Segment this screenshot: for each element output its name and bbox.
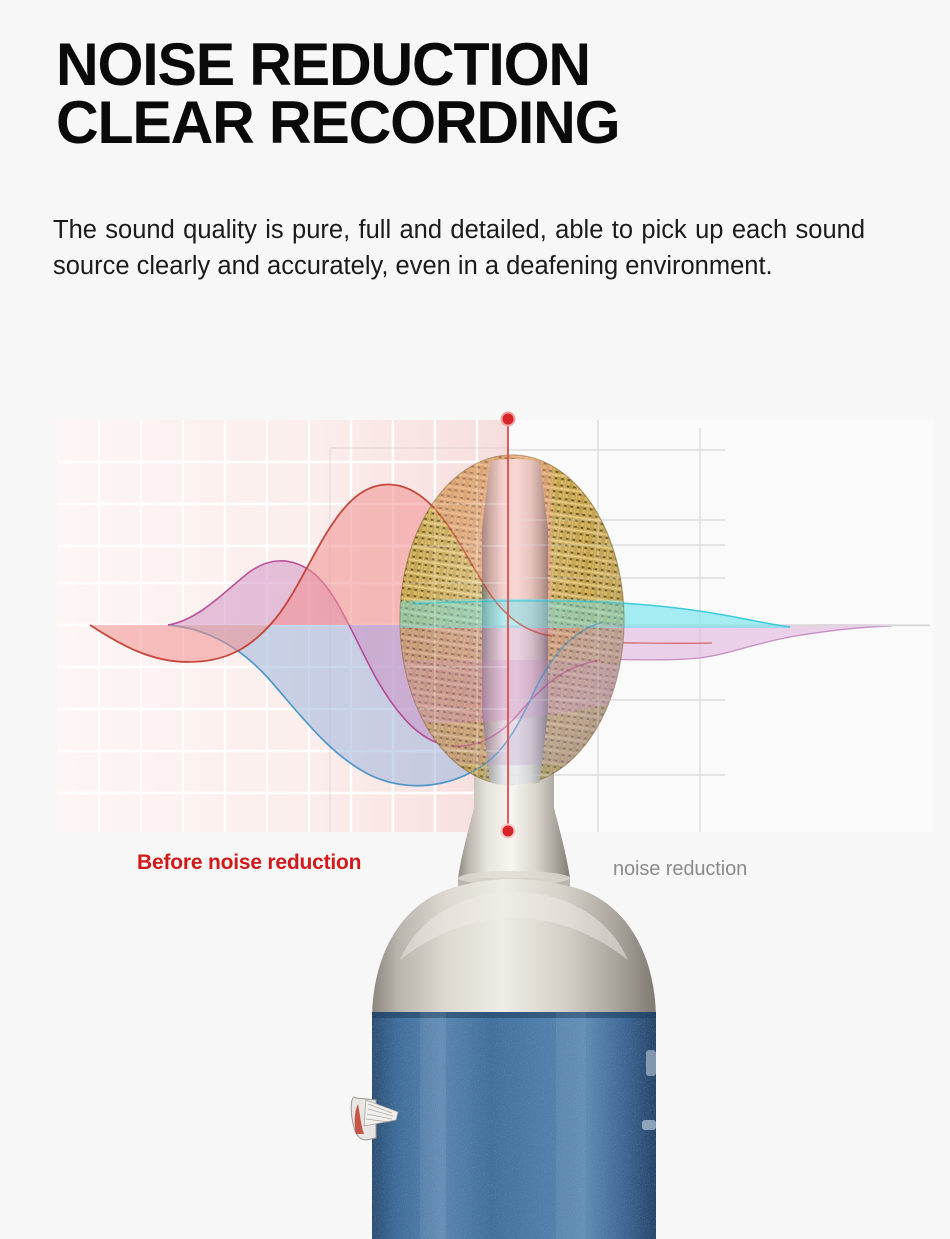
caption-after-noise-reduction: noise reduction bbox=[613, 858, 747, 881]
headline-line-1: NOISE REDUCTION bbox=[56, 36, 874, 94]
wave-magenta-mid-band bbox=[168, 561, 600, 746]
divider-marker bbox=[502, 413, 515, 838]
page-title: NOISE REDUCTIONCLEAR RECORDING bbox=[56, 36, 874, 152]
page-description: The sound quality is pure, full and deta… bbox=[53, 212, 865, 284]
wave-red-tail bbox=[512, 640, 712, 643]
microphone-head-mesh bbox=[398, 452, 626, 792]
headline-line-2: CLEAR RECORDING bbox=[56, 94, 874, 152]
wave-red-loud-peak bbox=[90, 484, 552, 662]
noise-reduction-visualization bbox=[0, 0, 950, 1239]
microphone-neck bbox=[458, 760, 570, 904]
microphone-body bbox=[372, 1012, 656, 1239]
microphone-dome bbox=[372, 879, 656, 1020]
before-panel bbox=[57, 420, 508, 832]
microphone-center-bar bbox=[482, 459, 548, 786]
waveform-group-back bbox=[90, 484, 930, 785]
divider-dot-bottom bbox=[502, 825, 515, 838]
divider-dot-top bbox=[502, 413, 515, 426]
body-side-detail bbox=[642, 1050, 656, 1130]
product-feature-page: NOISE REDUCTIONCLEAR RECORDING The sound… bbox=[0, 0, 950, 1239]
winged-emblem-badge bbox=[351, 1097, 398, 1140]
after-panel bbox=[508, 420, 933, 832]
studio-condenser-microphone bbox=[351, 420, 656, 1239]
wave-blue-low-band bbox=[168, 623, 600, 786]
wave-cyan-residual-right bbox=[412, 601, 790, 628]
caption-before-noise-reduction: Before noise reduction bbox=[137, 851, 361, 875]
wave-pink-residual-right bbox=[420, 624, 892, 661]
waveform-overlay-on-mic bbox=[352, 420, 626, 832]
